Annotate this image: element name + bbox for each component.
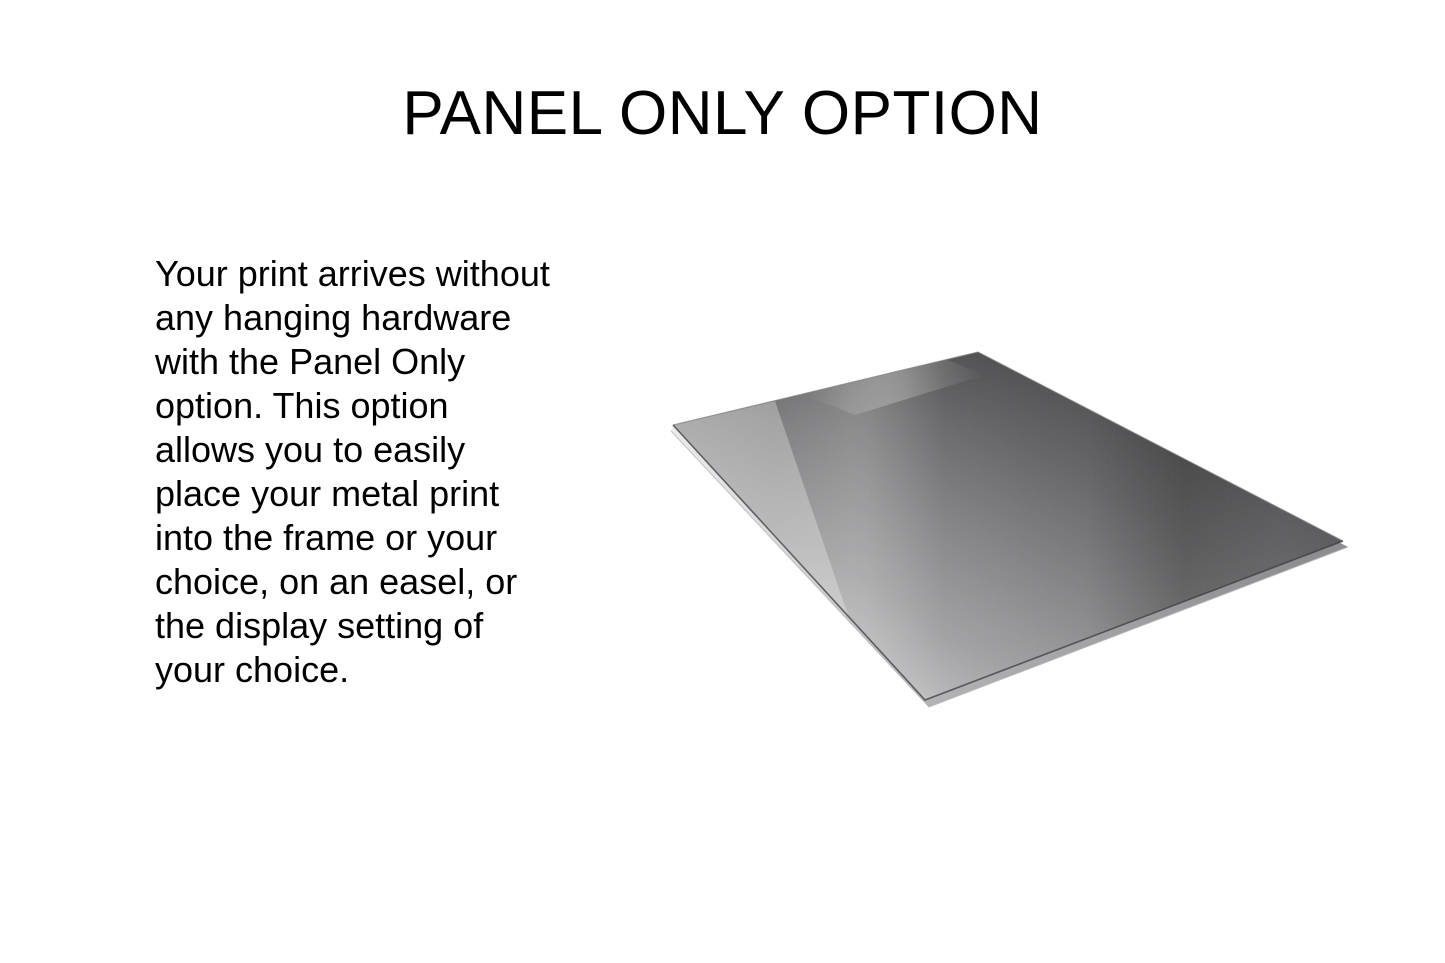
body-line: into the frame or your <box>155 516 575 560</box>
body-line: allows you to easily <box>155 428 575 472</box>
page-title: PANEL ONLY OPTION <box>0 78 1445 150</box>
metal-panel-illustration <box>655 335 1365 720</box>
body-paragraph: Your print arrives without any hanging h… <box>155 252 575 692</box>
body-line: option. This option <box>155 384 575 428</box>
body-line: the display setting of <box>155 604 575 648</box>
body-line: place your metal print <box>155 472 575 516</box>
slide-canvas: PANEL ONLY OPTION Your print arrives wit… <box>0 0 1445 963</box>
body-line: any hanging hardware <box>155 296 575 340</box>
body-line: choice, on an easel, or <box>155 560 575 604</box>
body-line: your choice. <box>155 648 575 692</box>
body-line: Your print arrives without <box>155 252 575 296</box>
metal-panel-photo <box>655 335 1365 720</box>
body-line: with the Panel Only <box>155 340 575 384</box>
